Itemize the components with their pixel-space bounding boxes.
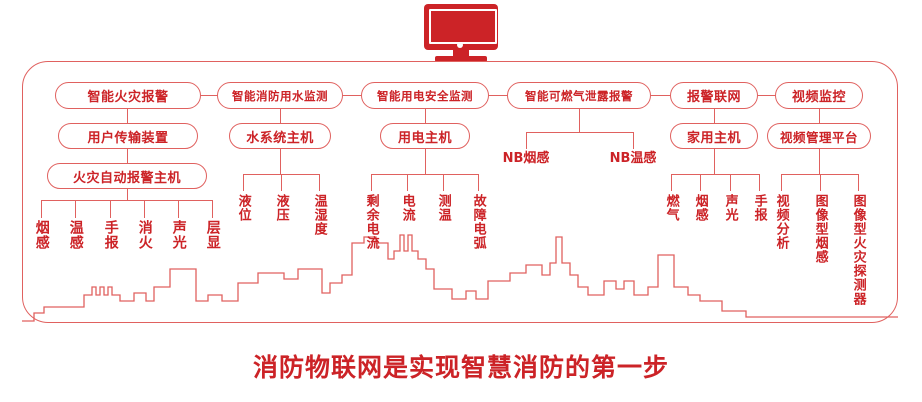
connector-alarmnet-leaf-0 xyxy=(671,174,672,191)
node-electric-top[interactable]: 智能用电安全监测 xyxy=(361,82,489,109)
connector-water-leaf-0 xyxy=(243,174,244,191)
connector-water-leaf-2 xyxy=(319,174,320,191)
monitor-indicator-dot xyxy=(457,42,463,48)
connector-alarmnet-1 xyxy=(714,109,715,123)
leaf-fire-1: 温感 xyxy=(68,220,83,250)
node-alarmnet-top[interactable]: 报警联网 xyxy=(670,82,758,109)
monitor-icon xyxy=(424,4,498,62)
node-video-top[interactable]: 视频监控 xyxy=(775,82,863,109)
connector-water-2 xyxy=(280,149,281,174)
leaf-alarmnet-0: 燃气 xyxy=(664,194,678,222)
connector-video-leaf-1 xyxy=(820,174,821,191)
connector-electric-leaf-0 xyxy=(371,174,372,191)
connector-fire-leaf-1 xyxy=(75,200,76,218)
connector-electric-leaf-3 xyxy=(478,174,479,191)
connector-alarmnet-leaf-2 xyxy=(730,174,731,191)
connector-top-3-4 xyxy=(489,95,508,96)
node-fire-alarm-mid[interactable]: 用户传输装置 xyxy=(58,123,198,149)
page-caption: 消防物联网是实现智慧消防的第一步 xyxy=(0,348,922,384)
leaf-fire-4: 声光 xyxy=(171,220,186,250)
connector-electric-2 xyxy=(425,149,426,174)
connector-fire-leaf-0 xyxy=(41,200,42,218)
connector-fire-alarm-bus xyxy=(41,200,213,201)
connector-alarmnet-2 xyxy=(714,149,715,174)
leaf-water-2: 温湿度 xyxy=(312,194,326,236)
connector-alarmnet-leaf-1 xyxy=(700,174,701,191)
node-gas-top[interactable]: 智能可燃气泄露报警 xyxy=(507,82,651,109)
monitor-screen xyxy=(429,9,497,44)
node-video-mid[interactable]: 视频管理平台 xyxy=(767,123,871,149)
leaf-fire-0: 烟感 xyxy=(34,220,49,250)
leaf-video-2: 图像型火灾探测器 xyxy=(851,194,865,306)
leaf-water-0: 液位 xyxy=(236,194,250,222)
connector-alarmnet-leaf-3 xyxy=(759,174,760,191)
connector-top-4-5 xyxy=(651,95,671,96)
connector-water-1 xyxy=(280,109,281,123)
infographic-canvas: 智能火灾报警 用户传输装置 火灾自动报警主机 烟感 温感 手报 消火 声光 层显… xyxy=(0,0,922,402)
connector-video-2 xyxy=(819,149,820,174)
node-fire-alarm-sub[interactable]: 火灾自动报警主机 xyxy=(47,163,207,189)
connector-electric-leaf-1 xyxy=(407,174,408,191)
leaf-alarmnet-2: 声光 xyxy=(723,194,737,222)
connector-gas-1 xyxy=(579,109,580,132)
connector-electric-bus xyxy=(371,174,478,175)
connector-video-leaf-2 xyxy=(858,174,859,191)
leaf-video-1: 图像型烟感 xyxy=(813,194,827,264)
connector-fire-leaf-2 xyxy=(110,200,111,218)
leaf-electric-3: 故障电弧 xyxy=(471,194,485,250)
connector-fire-alarm-3 xyxy=(127,189,128,200)
leaf-fire-5: 层显 xyxy=(205,220,220,250)
leaf-video-0: 视频分析 xyxy=(774,194,788,250)
connector-water-leaf-1 xyxy=(281,174,282,191)
node-water-mid[interactable]: 水系统主机 xyxy=(229,123,331,149)
node-fire-alarm-top[interactable]: 智能火灾报警 xyxy=(55,82,201,109)
connector-fire-leaf-5 xyxy=(212,200,213,218)
connector-electric-1 xyxy=(425,109,426,123)
leaf-electric-2: 测温 xyxy=(436,194,450,222)
leaf-alarmnet-3: 手报 xyxy=(752,194,766,222)
connector-gas-leaf-1 xyxy=(633,132,634,149)
connector-video-1 xyxy=(819,109,820,123)
leaf-alarmnet-1: 烟感 xyxy=(693,194,707,222)
connector-alarmnet-bus xyxy=(671,174,759,175)
connector-electric-leaf-2 xyxy=(443,174,444,191)
connector-top-5-6 xyxy=(758,95,776,96)
leaf-electric-0: 剩余电流 xyxy=(364,194,378,250)
connector-fire-leaf-3 xyxy=(144,200,145,218)
node-electric-mid[interactable]: 用电主机 xyxy=(380,123,470,149)
connector-video-leaf-0 xyxy=(781,174,782,191)
node-water-top[interactable]: 智能消防用水监测 xyxy=(217,82,343,109)
leaf-gas-0: NB烟感 xyxy=(496,152,556,166)
leaf-water-1: 液压 xyxy=(274,194,288,222)
connector-top-2-3 xyxy=(343,95,362,96)
monitor-screen-frame xyxy=(424,4,498,50)
leaf-fire-2: 手报 xyxy=(103,220,118,250)
leaf-electric-1: 电流 xyxy=(400,194,414,222)
leaf-gas-1: NB温感 xyxy=(603,152,663,166)
connector-gas-bus xyxy=(526,132,633,133)
connector-gas-leaf-0 xyxy=(526,132,527,149)
leaf-fire-3: 消火 xyxy=(137,220,152,250)
connector-fire-leaf-4 xyxy=(178,200,179,218)
node-alarmnet-mid[interactable]: 家用主机 xyxy=(670,123,758,149)
